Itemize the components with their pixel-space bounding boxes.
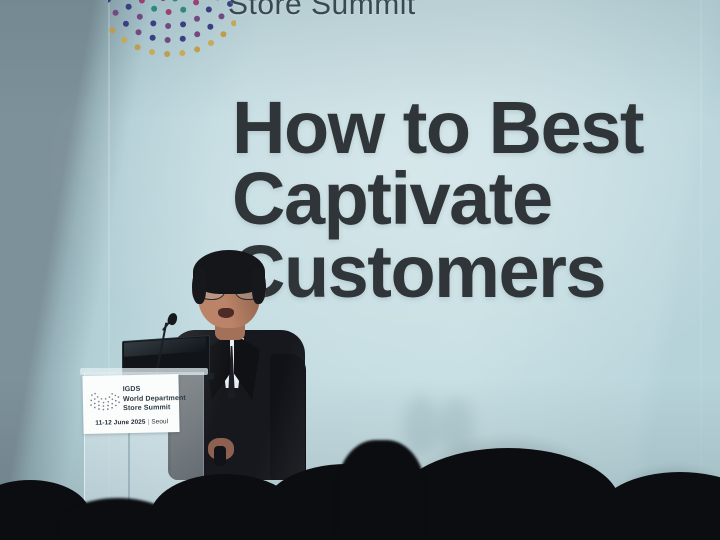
audience-silhouettes: [0, 380, 720, 540]
headline-line-2: Captivate: [232, 163, 702, 234]
speaker-hair-side-left: [192, 268, 206, 304]
igds-dot-arc-logo: [108, 0, 236, 60]
speaker-mouth: [218, 308, 234, 318]
conference-photo: Store Summit How to Best Captivate Custo…: [0, 0, 720, 540]
audience-head-7: [336, 440, 426, 540]
headline-line-1: How to Best: [232, 92, 702, 163]
event-logo-wordmark: Store Summit: [228, 0, 416, 22]
speaker-hair-side-right: [252, 268, 266, 304]
audience-row-base: [0, 534, 720, 540]
